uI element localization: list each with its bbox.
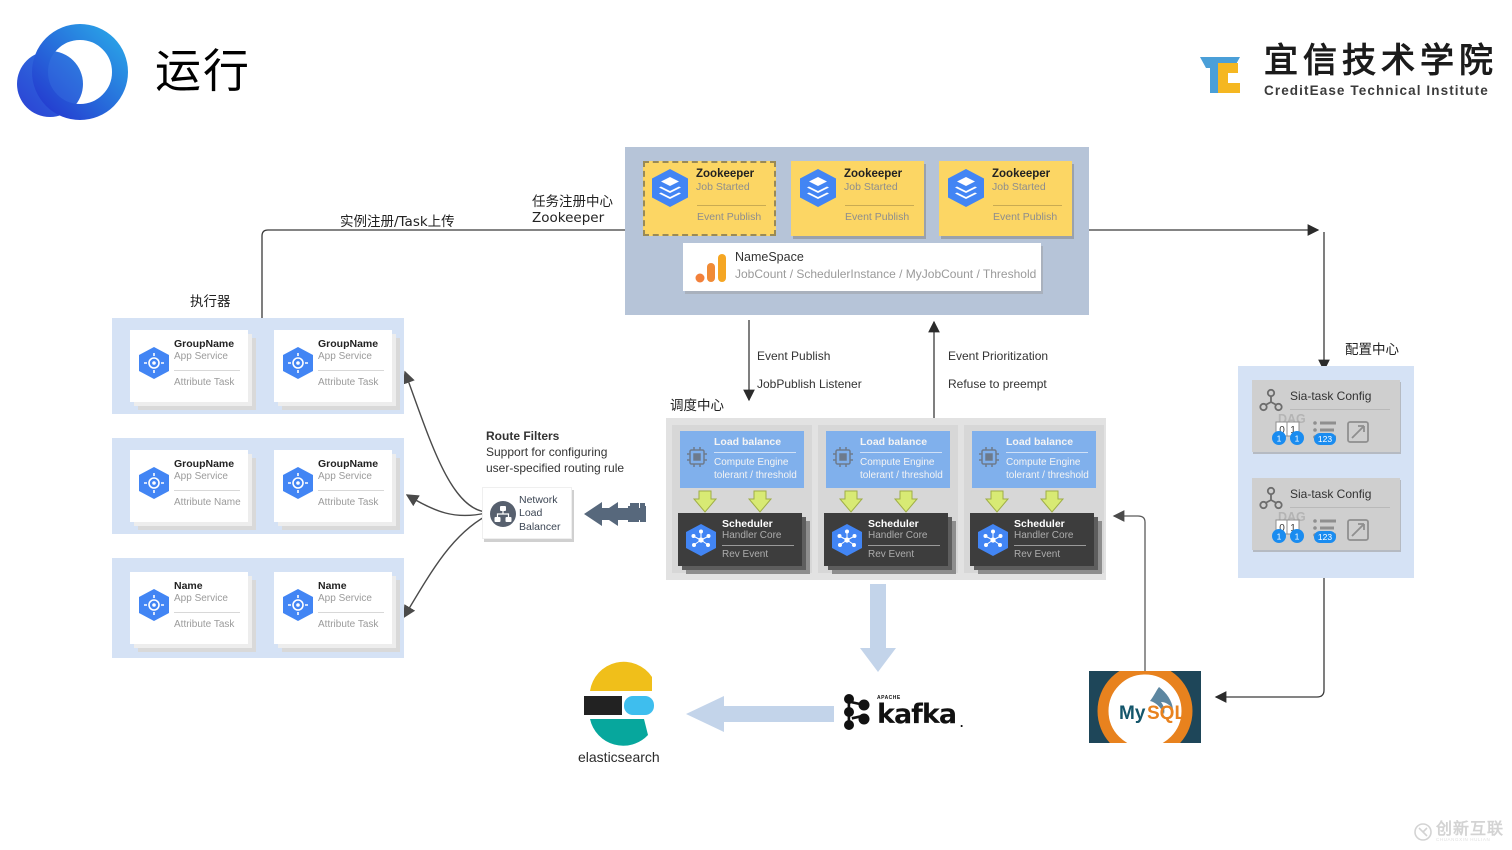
flow-down-arrows-icon (988, 491, 1084, 515)
zookeeper-card-header: Zookeeper Job Started (947, 168, 1050, 208)
svg-text:SQL: SQL (1147, 703, 1186, 724)
divider (993, 205, 1062, 206)
scheduler-title: Scheduler (722, 518, 773, 530)
kafka-logo-icon (840, 692, 874, 732)
zookeeper-card-footer: Event Publish (993, 211, 1057, 223)
svg-text:123: 123 (1318, 532, 1332, 542)
svg-text:1: 1 (1277, 434, 1282, 444)
scheduler-footer: Rev Event (722, 549, 768, 560)
executor-group-1: GroupName App Service Attribute Task Gro… (112, 318, 404, 414)
nlb-label: Network Load Balancer (519, 494, 560, 534)
kafka-node[interactable]: APACHE kafka . (840, 692, 964, 732)
cpu-chip-icon (685, 445, 709, 469)
app-service-icon (282, 466, 314, 500)
divider (722, 545, 794, 546)
zookeeper-card-subtitle: Job Started (992, 181, 1050, 194)
app-service-icon (138, 346, 170, 380)
executor-card-subtitle: App Service (174, 351, 228, 362)
compute-engine-line1: Compute Engine (714, 457, 797, 470)
executor-card-subtitle: App Service (318, 471, 372, 482)
zookeeper-stack-icon (947, 168, 985, 208)
instance-register-label: 实例注册/Task上传 (340, 210, 455, 230)
compute-engine-line1: Compute Engine (1006, 457, 1089, 470)
network-load-balancer-icon (489, 500, 517, 528)
nlb-line2: Load (519, 507, 560, 520)
config-badges-icon: 0 1 1 1 123 (1270, 518, 1390, 548)
schedule-column-2: Load balance Compute Engine tolerant / t… (818, 425, 958, 573)
app-service-icon (282, 588, 314, 622)
executor-card[interactable]: Name App Service Attribute Task (274, 572, 392, 644)
flow-down-arrows-icon (842, 491, 938, 515)
config-center-label: 配置中心 (1345, 338, 1399, 358)
divider (1014, 545, 1086, 546)
executor-card[interactable]: GroupName App Service Attribute Task (274, 450, 392, 522)
divider (860, 452, 942, 453)
executor-group-2: GroupName App Service Attribute Name Gro… (112, 438, 404, 534)
executor-card-title: GroupName (174, 338, 234, 350)
nlb-line3: Balancer (519, 521, 560, 534)
executor-card[interactable]: GroupName App Service Attribute Name (130, 450, 248, 522)
app-service-icon (138, 588, 170, 622)
executor-card-title: Name (318, 580, 347, 592)
kafka-to-elasticsearch-arrow-icon (684, 696, 834, 734)
scheduler-title: Scheduler (1014, 518, 1065, 530)
cpu-chip-icon (831, 445, 855, 469)
mysql-logo-icon: My SQL (1089, 671, 1201, 743)
svg-text:My: My (1119, 703, 1146, 724)
watermark-en: CHUANGXIN HULIAN (1436, 837, 1504, 842)
executor-card-footer: Attribute Task (318, 497, 378, 508)
divider (1290, 507, 1390, 508)
scheduler-node-icon (831, 523, 863, 557)
executor-card[interactable]: GroupName App Service Attribute Task (274, 330, 392, 402)
zookeeper-card-title: Zookeeper (992, 168, 1050, 181)
elasticsearch-logo-icon (580, 665, 662, 743)
executor-card-subtitle: App Service (174, 471, 228, 482)
mysql-node[interactable]: My SQL (1089, 671, 1201, 743)
config-center-panel: Sia-task Config DAG 0 1 1 1 123 (1238, 366, 1414, 578)
executor-card-title: Name (174, 580, 203, 592)
load-balance-sub: Compute Engine tolerant / threshold (714, 457, 797, 482)
executor-card-title: GroupName (318, 338, 378, 350)
schedule-column-1: Load balance Compute Engine tolerant / t… (672, 425, 812, 573)
executor-label: 执行器 (190, 290, 231, 310)
sia-task-config-icon (1258, 388, 1284, 414)
zookeeper-card-footer: Event Publish (845, 211, 909, 223)
namespace-title: NameSpace (735, 250, 804, 264)
divider (1290, 409, 1390, 410)
zookeeper-stack-icon (651, 168, 689, 208)
jobpublish-listener-label: JobPublish Listener (757, 377, 862, 391)
zookeeper-card-header: Zookeeper Job Started (651, 168, 754, 208)
load-balance-card[interactable]: Load balance Compute Engine tolerant / t… (826, 431, 950, 488)
elasticsearch-node[interactable]: elasticsearch (580, 665, 662, 765)
network-load-balancer-card[interactable]: Network Load Balancer (482, 487, 572, 539)
cx-circle-icon (1414, 823, 1432, 841)
compute-engine-line2: tolerant / threshold (860, 470, 943, 483)
executor-card[interactable]: Name App Service Attribute Task (130, 572, 248, 644)
inbound-traffic-arrow-blocks-icon (584, 498, 654, 528)
route-filters-line1: Support for configuring (486, 444, 624, 460)
divider (868, 545, 940, 546)
scheduler-card[interactable]: Scheduler Handler Core Rev Event (824, 513, 948, 566)
compute-engine-line1: Compute Engine (860, 457, 943, 470)
scheduler-card[interactable]: Scheduler Handler Core Rev Event (970, 513, 1094, 566)
scheduler-to-kafka-arrow-icon (858, 584, 898, 676)
load-balance-sub: Compute Engine tolerant / threshold (860, 457, 943, 482)
zookeeper-card-subtitle: Job Started (696, 181, 754, 194)
divider (714, 452, 796, 453)
watermark: 创新互联 CHUANGXIN HULIAN (1414, 821, 1504, 842)
executor-group-3: Name App Service Attribute Task Name App… (112, 558, 404, 658)
app-service-icon (138, 466, 170, 500)
diagram-canvas: 运行 宜信技术学院 CreditEase Technical Institute (0, 0, 1512, 850)
sia-task-config-title: Sia-task Config (1290, 389, 1371, 403)
zookeeper-card-header: Zookeeper Job Started (799, 168, 902, 208)
divider (174, 490, 240, 491)
event-prioritization-label: Event Prioritization (948, 349, 1048, 363)
executor-card-footer: Attribute Name (174, 497, 241, 508)
route-filters-note: Route Filters Support for configuring us… (486, 428, 624, 477)
executor-card-title: GroupName (174, 458, 234, 470)
kafka-label: kafka (877, 701, 956, 728)
svg-text:1: 1 (1295, 434, 1300, 444)
svg-text:1: 1 (1277, 532, 1282, 542)
divider (697, 205, 766, 206)
divider (318, 370, 384, 371)
scheduler-footer: Rev Event (868, 549, 914, 560)
divider (318, 490, 384, 491)
config-badges-icon: 0 1 1 1 123 (1270, 420, 1390, 450)
executor-card-footer: Attribute Task (318, 377, 378, 388)
executor-card-subtitle: App Service (318, 593, 372, 604)
zookeeper-card-title: Zookeeper (696, 168, 754, 181)
load-balance-sub: Compute Engine tolerant / threshold (1006, 457, 1089, 482)
schedule-column-3: Load balance Compute Engine tolerant / t… (964, 425, 1104, 573)
refuse-to-preempt-label: Refuse to preempt (948, 377, 1047, 391)
compute-engine-line2: tolerant / threshold (1006, 470, 1089, 483)
schedule-center-label: 调度中心 (670, 394, 724, 414)
divider (174, 612, 240, 613)
bar-chart-icon (695, 253, 729, 283)
sia-task-config-title: Sia-task Config (1290, 487, 1371, 501)
divider (174, 370, 240, 371)
executor-card-title: GroupName (318, 458, 378, 470)
load-balance-title: Load balance (860, 436, 927, 448)
zookeeper-card-2[interactable]: Zookeeper Job Started Event Publish (791, 161, 924, 236)
executor-card-footer: Attribute Task (174, 619, 234, 630)
scheduler-footer: Rev Event (1014, 549, 1060, 560)
divider (318, 612, 384, 613)
executor-card-footer: Attribute Task (318, 619, 378, 630)
executor-card[interactable]: GroupName App Service Attribute Task (130, 330, 248, 402)
task-center-label-line1: 任务注册中心 (532, 190, 613, 210)
event-publish-label: Event Publish (757, 349, 830, 363)
load-balance-card[interactable]: Load balance Compute Engine tolerant / t… (972, 431, 1096, 488)
route-filters-line2: user-specified routing rule (486, 460, 624, 476)
svg-text:1: 1 (1295, 532, 1300, 542)
executor-card-footer: Attribute Task (174, 377, 234, 388)
flow-down-arrows-icon (696, 491, 792, 515)
route-filters-title: Route Filters (486, 428, 624, 444)
schedule-center-panel: Load balance Compute Engine tolerant / t… (666, 418, 1106, 580)
scheduler-card[interactable]: Scheduler Handler Core Rev Event (678, 513, 802, 566)
sia-task-config-icon (1258, 486, 1284, 512)
scheduler-node-icon (977, 523, 1009, 557)
scheduler-subtitle: Handler Core (1014, 530, 1073, 541)
namespace-subtitle: JobCount / SchedulerInstance / MyJobCoun… (735, 267, 1036, 281)
load-balance-title: Load balance (714, 436, 781, 448)
elasticsearch-label: elasticsearch (578, 749, 662, 765)
task-center-label: 任务注册中心 Zookeeper (532, 190, 613, 226)
executor-card-subtitle: App Service (174, 593, 228, 604)
app-service-icon (282, 346, 314, 380)
watermark-cn: 创新互联 (1436, 821, 1504, 837)
sia-task-config-card-2[interactable]: Sia-task Config DAG 0 1 1 1 123 (1252, 478, 1400, 550)
zookeeper-card-1[interactable]: Zookeeper Job Started Event Publish (643, 161, 776, 236)
zookeeper-stack-icon (799, 168, 837, 208)
load-balance-title: Load balance (1006, 436, 1073, 448)
zookeeper-card-footer: Event Publish (697, 211, 761, 223)
sia-task-config-card-1[interactable]: Sia-task Config DAG 0 1 1 1 123 (1252, 380, 1400, 452)
executor-card-subtitle: App Service (318, 351, 372, 362)
divider (845, 205, 914, 206)
scheduler-node-icon (685, 523, 717, 557)
scheduler-subtitle: Handler Core (868, 530, 927, 541)
zookeeper-card-3[interactable]: Zookeeper Job Started Event Publish (939, 161, 1072, 236)
nlb-line1: Network (519, 494, 560, 507)
svg-text:123: 123 (1318, 434, 1332, 444)
task-center-label-line2: Zookeeper (532, 210, 613, 226)
zookeeper-card-title: Zookeeper (844, 168, 902, 181)
cpu-chip-icon (977, 445, 1001, 469)
scheduler-subtitle: Handler Core (722, 530, 781, 541)
namespace-card[interactable]: NameSpace JobCount / SchedulerInstance /… (683, 243, 1041, 291)
compute-engine-line2: tolerant / threshold (714, 470, 797, 483)
load-balance-card[interactable]: Load balance Compute Engine tolerant / t… (680, 431, 804, 488)
zookeeper-card-subtitle: Job Started (844, 181, 902, 194)
scheduler-title: Scheduler (868, 518, 919, 530)
divider (1006, 452, 1088, 453)
